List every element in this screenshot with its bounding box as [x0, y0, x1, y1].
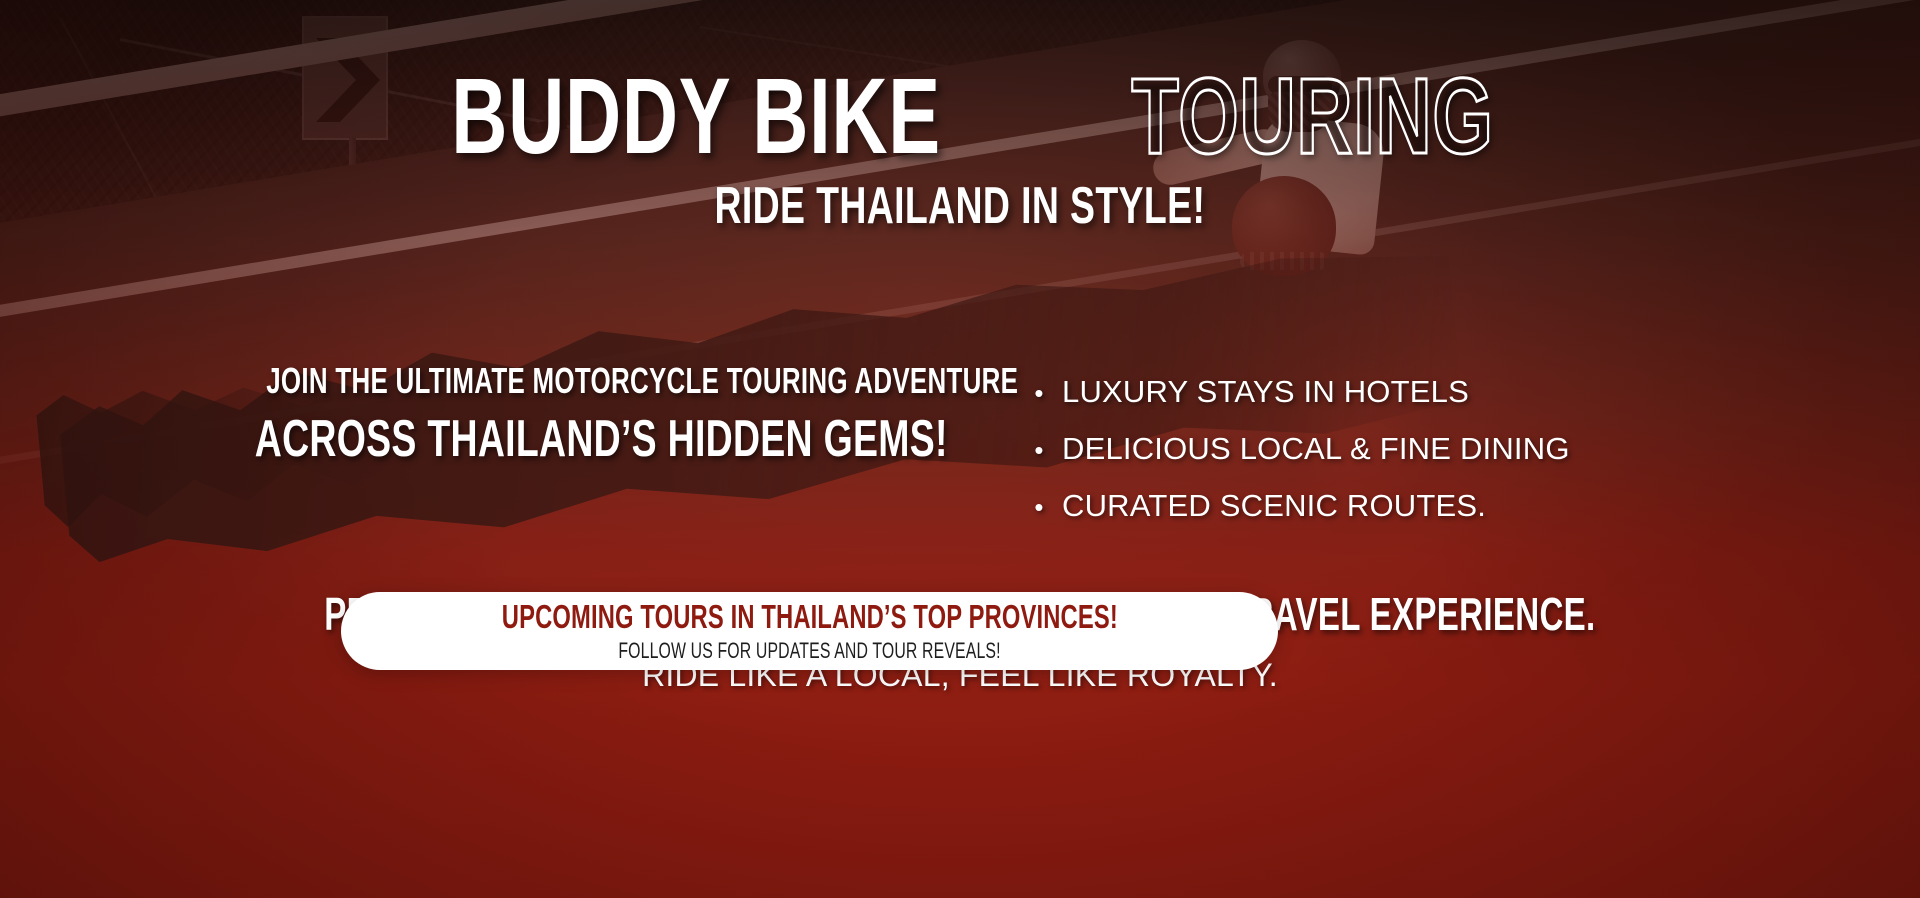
cta-secondary-label: FOLLOW US FOR UPDATES AND TOUR REVEALS! — [618, 638, 1000, 664]
feature-bullets: • LUXURY STAYS IN HOTELS • DELICIOUS LOC… — [1016, 364, 1920, 535]
mid-section: JOIN THE ULTIMATE MOTORCYCLE TOURING ADV… — [0, 360, 1920, 535]
feature-label: DELICIOUS LOCAL & FINE DINING — [1062, 421, 1570, 476]
bullet-icon: • — [1016, 480, 1062, 535]
headline-outline: TOURING — [1131, 62, 1493, 170]
subheadline-text: RIDE THAILAND IN STYLE! — [715, 178, 1206, 234]
bullet-icon: • — [1016, 366, 1062, 421]
list-item: • LUXURY STAYS IN HOTELS — [1016, 364, 1920, 421]
bullet-icon: • — [1016, 423, 1062, 478]
cta-primary-label: UPCOMING TOURS IN THAILAND’S TOP PROVINC… — [501, 599, 1117, 635]
headline: BUDDY BIKETOURING — [0, 62, 1920, 170]
feature-label: CURATED SCENIC ROUTES. — [1062, 478, 1486, 533]
banner-content: BUDDY BIKETOURING RIDE THAILAND IN STYLE… — [0, 0, 1920, 898]
intro-copy: JOIN THE ULTIMATE MOTORCYCLE TOURING ADV… — [0, 360, 1000, 470]
intro-line-2: ACROSS THAILAND’S HIDDEN GEMS! — [255, 408, 948, 470]
subheadline: RIDE THAILAND IN STYLE! — [0, 178, 1920, 234]
promo-banner: BUDDY BIKETOURING RIDE THAILAND IN STYLE… — [0, 0, 1920, 898]
list-item: • DELICIOUS LOCAL & FINE DINING — [1016, 421, 1920, 478]
feature-list: • LUXURY STAYS IN HOTELS • DELICIOUS LOC… — [1000, 360, 1920, 535]
headline-solid: BUDDY BIKE — [452, 62, 942, 170]
list-item: • CURATED SCENIC ROUTES. — [1016, 478, 1920, 535]
feature-label: LUXURY STAYS IN HOTELS — [1062, 364, 1469, 419]
intro-line-1: JOIN THE ULTIMATE MOTORCYCLE TOURING ADV… — [266, 360, 1018, 402]
cta-button[interactable]: UPCOMING TOURS IN THAILAND’S TOP PROVINC… — [341, 592, 1278, 670]
